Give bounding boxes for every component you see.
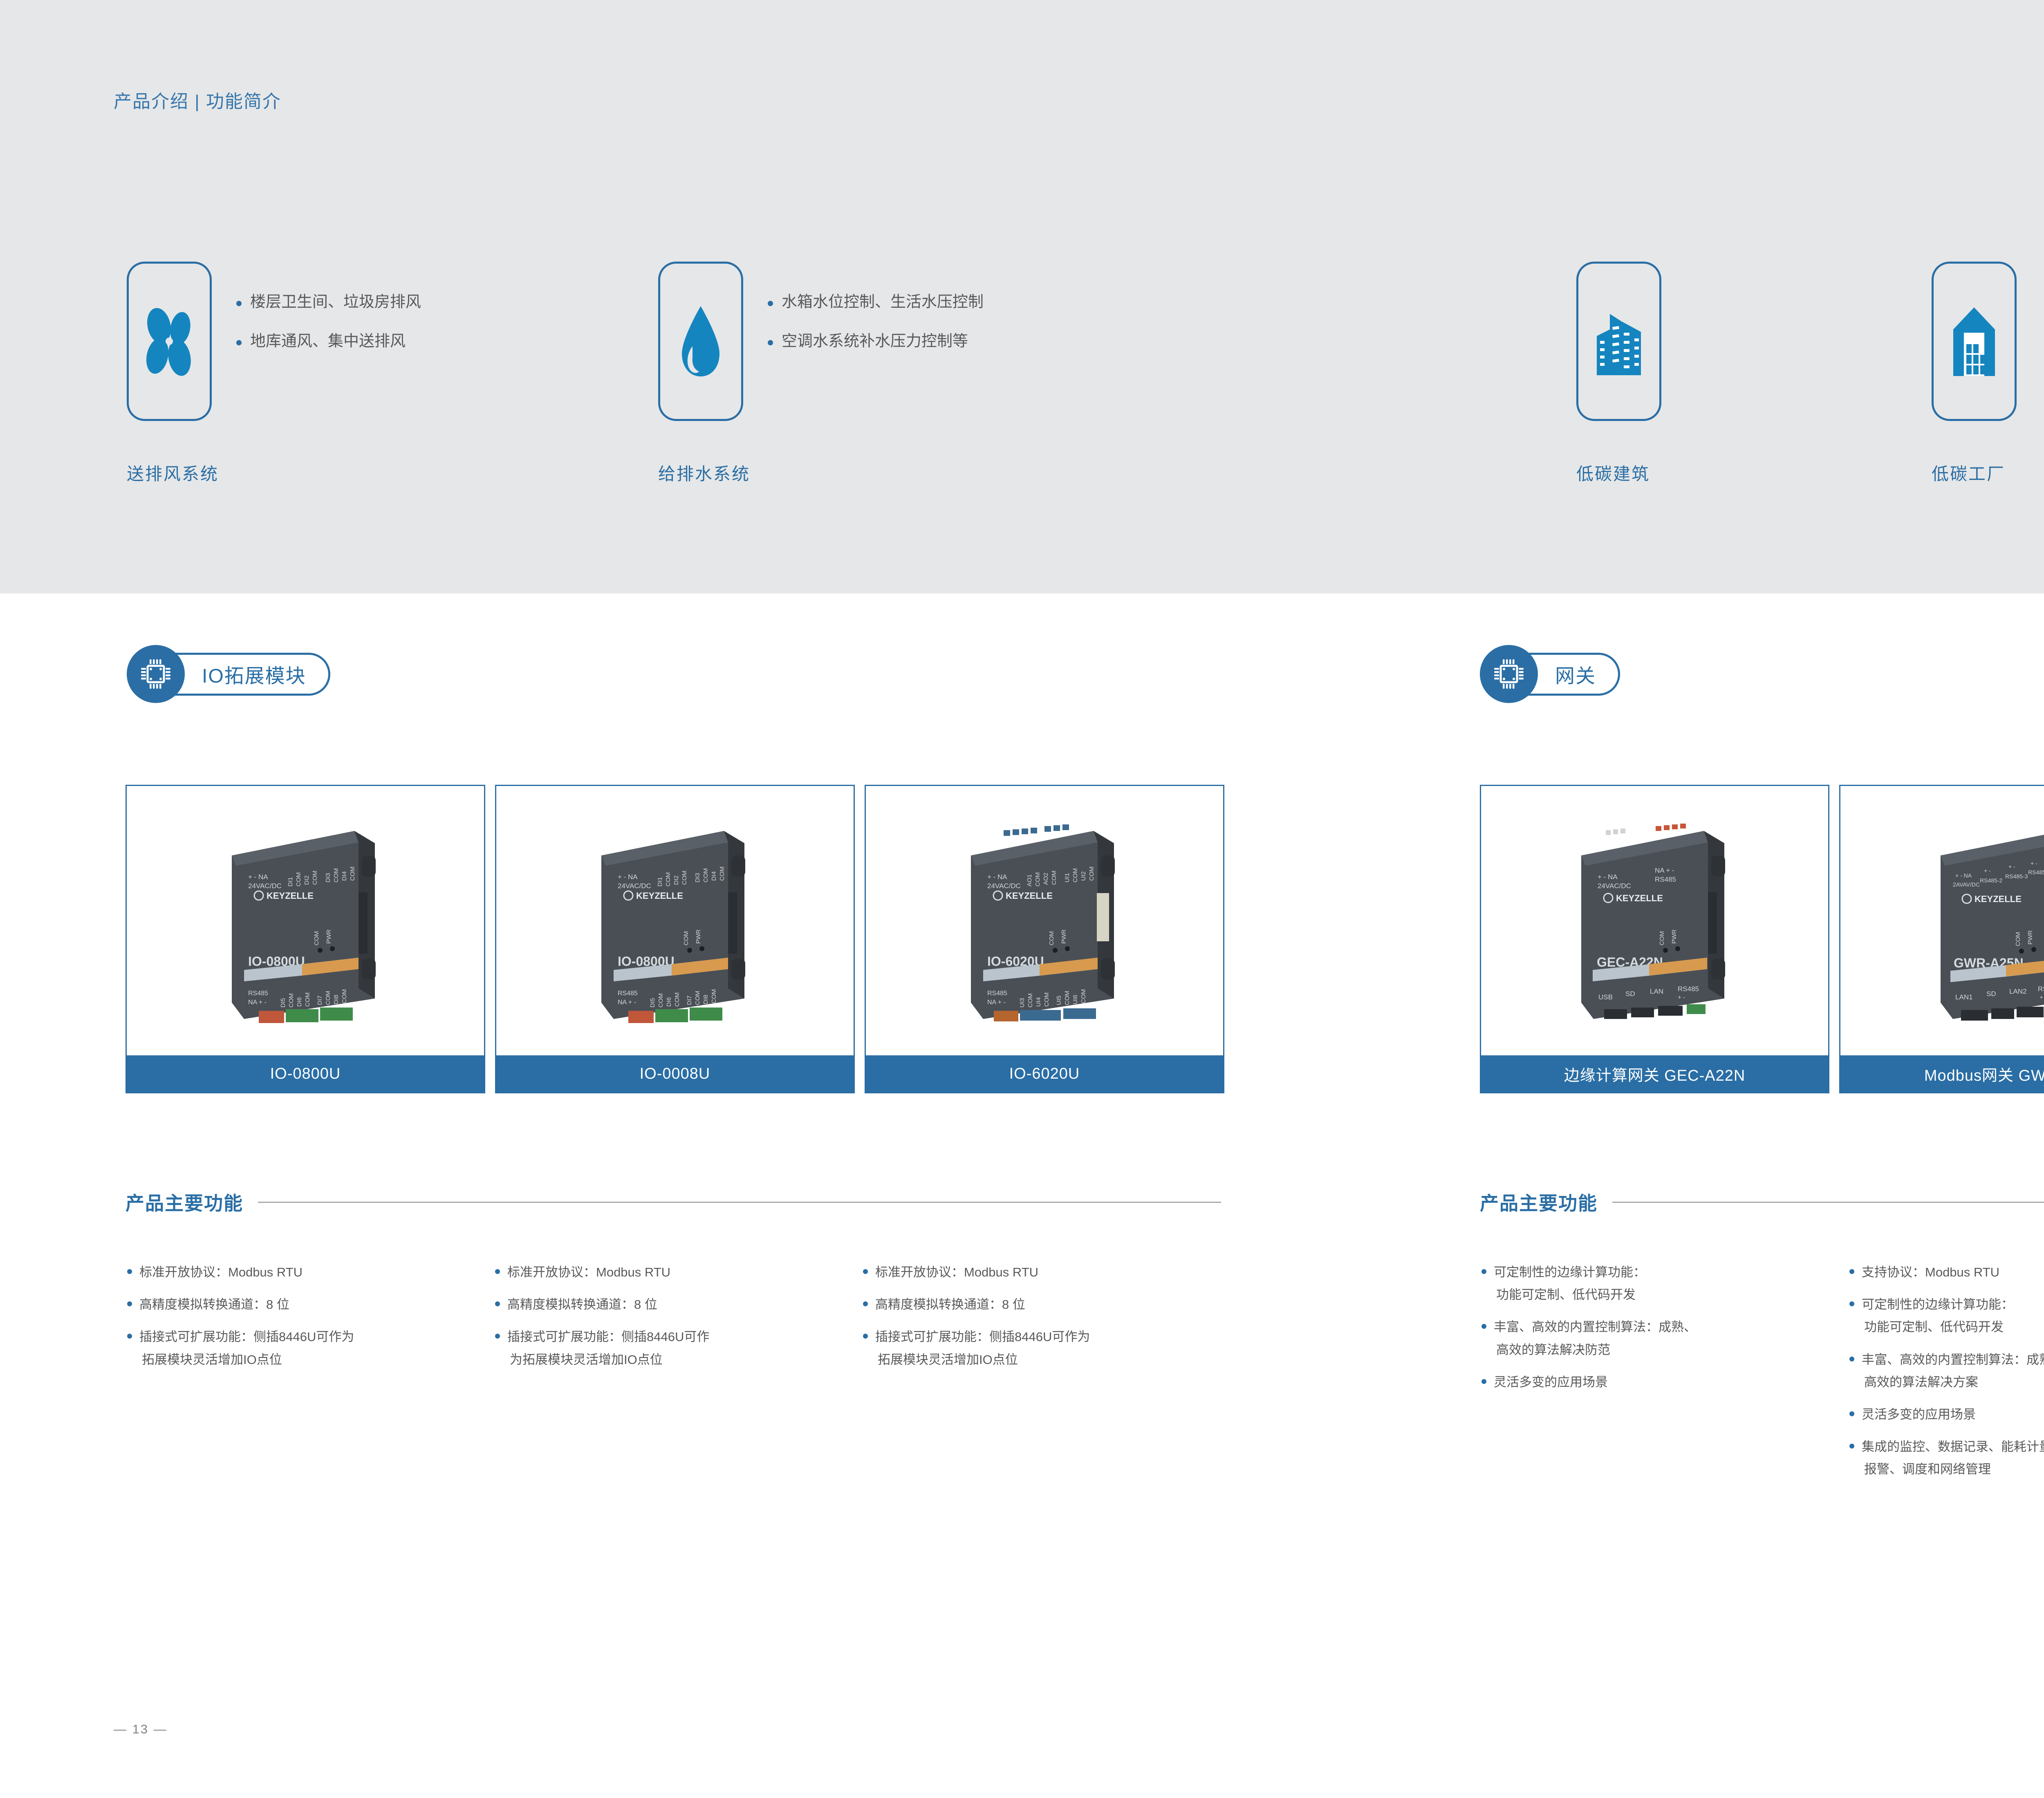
water-drop-icon bbox=[676, 300, 725, 382]
svg-text:COM: COM bbox=[304, 992, 311, 1007]
product-card-label: IO-0008U bbox=[496, 1055, 854, 1092]
factory-icon-frame bbox=[1932, 262, 2017, 421]
svg-text:COM: COM bbox=[349, 867, 356, 881]
svg-text:KEYZELLE: KEYZELLE bbox=[267, 891, 314, 901]
gateway-product-card-list: + - NA 24VAC/DC NA + - RS485 KEYZELLE GE… bbox=[1480, 785, 2044, 1093]
feature-column-1: 可定制性的边缘计算功能：功能可定制、低代码开发 丰富、高效的内置控制算法：成熟、… bbox=[1480, 1261, 1848, 1490]
svg-text:COM: COM bbox=[312, 871, 318, 885]
office-building-icon bbox=[1591, 302, 1647, 380]
svg-text:NA + -: NA + - bbox=[1655, 867, 1674, 874]
svg-text:DI5: DI5 bbox=[280, 998, 287, 1007]
svg-text:RS485: RS485 bbox=[1655, 875, 1676, 883]
svg-text:PWR: PWR bbox=[695, 929, 702, 943]
chip-icon-circle bbox=[127, 645, 185, 703]
svg-text:KEYZELLE: KEYZELLE bbox=[636, 891, 683, 901]
svg-text:COM: COM bbox=[694, 991, 701, 1005]
factory-icon bbox=[1950, 302, 1998, 380]
svg-text:COM: COM bbox=[719, 867, 726, 881]
svg-text:NA + -: NA + - bbox=[248, 999, 267, 1006]
svg-text:DI1: DI1 bbox=[657, 877, 663, 886]
svg-text:+ - NA: + - NA bbox=[618, 873, 638, 881]
svg-text:DI7: DI7 bbox=[686, 995, 693, 1005]
scenario-water-supply: 给排水系统 水箱水位控制、生活水压控制 空调水系统补水压力控制等 bbox=[658, 262, 750, 485]
scenario-title: 送排风系统 bbox=[127, 460, 219, 485]
list-item: 插接式可扩展功能：侧插8446U可作为拓展模块灵活增加IO点位 bbox=[126, 1326, 493, 1370]
product-card-label: IO-6020U bbox=[866, 1055, 1223, 1092]
list-item: 可定制性的边缘计算功能：功能可定制、低代码开发 bbox=[1848, 1293, 2044, 1338]
product-card-label: IO-0800U bbox=[127, 1055, 484, 1092]
svg-text:24VAC/DC: 24VAC/DC bbox=[987, 882, 1021, 890]
svg-text:USB: USB bbox=[1598, 993, 1613, 1001]
svg-text:DI8: DI8 bbox=[333, 994, 340, 1004]
svg-text:UI3: UI3 bbox=[1019, 998, 1026, 1007]
svg-text:DI2: DI2 bbox=[303, 875, 310, 884]
list-item: 插接式可扩展功能：侧插8446U可作为拓展模块灵活增加IO点位 bbox=[861, 1326, 1229, 1370]
product-card-io-0008u[interactable]: + - NA 24VAC/DC DI1 COM DI2 COM DI3 COM … bbox=[495, 785, 855, 1093]
svg-text:AO2: AO2 bbox=[1042, 872, 1049, 884]
svg-text:+ -: + - bbox=[2008, 863, 2015, 870]
svg-text:COM: COM bbox=[1072, 868, 1079, 882]
section-badge-io-modules: IO拓展模块 bbox=[127, 645, 330, 703]
product-card-label: 边缘计算网关 GEC-A22N bbox=[1481, 1055, 1828, 1092]
fan-icon bbox=[143, 300, 196, 382]
svg-text:+ -: + - bbox=[2031, 860, 2037, 867]
svg-text:COM: COM bbox=[1027, 993, 1034, 1008]
scenario-ventilation: 送排风系统 楼层卫生间、垃圾房排风 地库通风、集中送排风 bbox=[127, 262, 219, 485]
product-card-gec-a22n[interactable]: + - NA 24VAC/DC NA + - RS485 KEYZELLE GE… bbox=[1480, 785, 1829, 1093]
svg-text:COM: COM bbox=[1659, 931, 1665, 945]
svg-text:PWR: PWR bbox=[1060, 929, 1067, 943]
svg-text:+ -: + - bbox=[2040, 994, 2044, 1001]
svg-text:SD: SD bbox=[1986, 990, 1996, 998]
fan-icon-frame bbox=[127, 262, 212, 421]
io-features-heading-row: 产品主要功能 bbox=[126, 1189, 1221, 1216]
svg-text:UI1: UI1 bbox=[1064, 873, 1071, 882]
list-item: 插接式可扩展功能：侧插8446U可作为拓展模块灵活增加IO点位 bbox=[493, 1326, 861, 1370]
svg-text:DI7: DI7 bbox=[316, 995, 323, 1005]
product-card-io-0800u[interactable]: + - NA 24VAC/DC DI1 COM DI2 COM DI3 COM … bbox=[126, 785, 485, 1093]
svg-text:COM: COM bbox=[295, 872, 302, 887]
page-header-left: 产品介绍 | 功能简介 bbox=[114, 87, 281, 113]
svg-text:COM: COM bbox=[657, 993, 664, 1008]
list-item: 水箱水位控制、生活水压控制 bbox=[765, 294, 1133, 310]
svg-text:COM: COM bbox=[665, 872, 672, 887]
list-item: 灵活多变的应用场景 bbox=[1848, 1403, 2044, 1426]
svg-text:UI6: UI6 bbox=[1072, 994, 1079, 1004]
heading-rule bbox=[258, 1202, 1221, 1203]
svg-text:COM: COM bbox=[333, 868, 340, 882]
svg-text:+ - NA: + - NA bbox=[1598, 873, 1618, 881]
svg-text:COM: COM bbox=[1048, 931, 1055, 945]
list-item: 高精度模拟转换通道：8 位 bbox=[861, 1293, 1229, 1316]
svg-text:COM: COM bbox=[325, 991, 332, 1005]
svg-text:COM: COM bbox=[1088, 867, 1095, 881]
svg-text:RS485: RS485 bbox=[618, 990, 638, 997]
svg-text:LAN1: LAN1 bbox=[1955, 993, 1973, 1001]
svg-text:DI3: DI3 bbox=[325, 873, 332, 882]
product-card-label: Modbus网关 GWR-A25N bbox=[1840, 1055, 2044, 1092]
product-photo: + - NA 24VAC/DC DI1 COM DI2 COM DI3 COM … bbox=[496, 786, 854, 1055]
svg-text:RS485-1: RS485-1 bbox=[2038, 985, 2044, 993]
office-building-icon-frame bbox=[1576, 262, 1661, 421]
chip-icon-circle bbox=[1480, 645, 1538, 703]
application-title: 低碳建筑 bbox=[1576, 460, 1661, 485]
svg-text:+ - NA: + - NA bbox=[248, 873, 268, 881]
svg-text:COM: COM bbox=[1080, 989, 1087, 1003]
list-item: 地库通风、集中送排风 bbox=[234, 334, 602, 349]
heading-rule bbox=[1612, 1202, 2044, 1203]
list-item: 标准开放协议：Modbus RTU bbox=[861, 1261, 1229, 1283]
svg-text:RS485-4: RS485-4 bbox=[2028, 869, 2044, 875]
svg-text:RS485: RS485 bbox=[248, 990, 268, 997]
svg-text:+ -: + - bbox=[1984, 867, 1991, 874]
svg-text:+ - NA: + - NA bbox=[1955, 872, 1972, 879]
list-item: 支持协议：Modbus RTU bbox=[1848, 1261, 2044, 1283]
svg-text:DI2: DI2 bbox=[673, 875, 680, 884]
svg-text:+ -: + - bbox=[1678, 994, 1685, 1001]
svg-text:AO1: AO1 bbox=[1026, 874, 1033, 886]
list-item: 标准开放协议：Modbus RTU bbox=[126, 1261, 493, 1283]
svg-text:COM: COM bbox=[681, 871, 688, 885]
list-item: 高精度模拟转换通道：8 位 bbox=[126, 1293, 493, 1316]
list-item: 丰富、高效的内置控制算法：成熟、高效的算法解决方案 bbox=[1848, 1348, 2044, 1393]
product-card-gwr-a25n[interactable]: + - NA+ -+ - + -+ - 2AVAV/DCRS485-2RS485… bbox=[1839, 785, 2044, 1093]
svg-text:RS485: RS485 bbox=[1678, 985, 1699, 993]
device-image-io-6020u: + - NA 24VAC/DC AO1 COM AO2 COM UI1 COM … bbox=[922, 806, 1167, 1035]
scenario-bullet-list: 水箱水位控制、生活水压控制 空调水系统补水压力控制等 bbox=[765, 294, 1133, 373]
svg-text:COM: COM bbox=[1051, 871, 1058, 885]
svg-text:DI5: DI5 bbox=[649, 998, 656, 1007]
section-heading: 产品主要功能 bbox=[1480, 1189, 1598, 1216]
product-card-io-6020u[interactable]: + - NA 24VAC/DC AO1 COM AO2 COM UI1 COM … bbox=[865, 785, 1224, 1093]
gateway-feature-columns: 可定制性的边缘计算功能：功能可定制、低代码开发 丰富、高效的内置控制算法：成熟、… bbox=[1480, 1261, 2044, 1490]
product-photo: + - NA 24VAC/DC NA + - RS485 KEYZELLE GE… bbox=[1481, 786, 1828, 1055]
svg-text:KEYZELLE: KEYZELLE bbox=[1975, 894, 2022, 904]
list-item: 空调水系统补水压力控制等 bbox=[765, 334, 1133, 349]
list-item: 高精度模拟转换通道：8 位 bbox=[493, 1293, 861, 1316]
svg-text:COM: COM bbox=[313, 931, 320, 945]
chip-icon bbox=[139, 657, 173, 691]
svg-text:RS485-3: RS485-3 bbox=[2005, 873, 2028, 880]
svg-text:UI2: UI2 bbox=[1080, 871, 1087, 880]
svg-text:PWR: PWR bbox=[1671, 929, 1678, 943]
section-heading: 产品主要功能 bbox=[126, 1189, 243, 1216]
svg-text:DI6: DI6 bbox=[666, 997, 672, 1006]
device-image-gec-a22n: + - NA 24VAC/DC NA + - RS485 KEYZELLE GE… bbox=[1532, 806, 1777, 1035]
svg-text:COM: COM bbox=[341, 989, 348, 1003]
svg-text:DI3: DI3 bbox=[694, 873, 701, 882]
list-item: 楼层卫生间、垃圾房排风 bbox=[234, 294, 602, 310]
device-image-io-0800u: + - NA 24VAC/DC DI1 COM DI2 COM DI3 COM … bbox=[183, 806, 428, 1035]
svg-text:COM: COM bbox=[710, 989, 717, 1003]
svg-text:NA + -: NA + - bbox=[618, 999, 636, 1006]
svg-text:UI4: UI4 bbox=[1035, 997, 1042, 1006]
svg-text:COM: COM bbox=[702, 868, 709, 882]
gateway-features-heading-row: 产品主要功能 bbox=[1480, 1189, 2044, 1216]
svg-text:COM: COM bbox=[1043, 992, 1050, 1007]
svg-text:DI4: DI4 bbox=[710, 871, 717, 880]
svg-text:24VAC/DC: 24VAC/DC bbox=[618, 882, 651, 890]
chip-icon bbox=[1492, 657, 1526, 691]
scenario-title: 给排水系统 bbox=[658, 460, 750, 485]
svg-text:DI1: DI1 bbox=[287, 877, 294, 886]
svg-text:KEYZELLE: KEYZELLE bbox=[1006, 891, 1053, 901]
svg-text:24VAC/DC: 24VAC/DC bbox=[248, 882, 282, 890]
svg-text:LAN2: LAN2 bbox=[2009, 987, 2027, 995]
product-photo: + - NA 24VAC/DC AO1 COM AO2 COM UI1 COM … bbox=[866, 786, 1223, 1055]
svg-text:DI4: DI4 bbox=[341, 871, 348, 880]
feature-column-2: 标准开放协议：Modbus RTU 高精度模拟转换通道：8 位 插接式可扩展功能… bbox=[493, 1261, 861, 1381]
svg-text:COM: COM bbox=[683, 931, 690, 945]
svg-text:PWR: PWR bbox=[325, 929, 332, 943]
application-low-carbon-factory: 低碳工厂 bbox=[1932, 262, 2017, 485]
list-item: 可定制性的边缘计算功能：功能可定制、低代码开发 bbox=[1480, 1261, 1848, 1306]
section-badge-label: IO拓展模块 bbox=[170, 653, 330, 696]
svg-text:DI6: DI6 bbox=[296, 997, 303, 1006]
product-photo: + - NA 24VAC/DC DI1 COM DI2 COM DI3 COM … bbox=[127, 786, 484, 1055]
svg-text:DI8: DI8 bbox=[702, 994, 709, 1004]
device-image-gwr-a25n: + - NA+ -+ - + -+ - 2AVAV/DCRS485-2RS485… bbox=[1892, 806, 2044, 1035]
section-badge-gateways: 网关 bbox=[1480, 645, 1620, 703]
svg-text:PWR: PWR bbox=[2027, 930, 2034, 944]
feature-column-1: 标准开放协议：Modbus RTU 高精度模拟转换通道：8 位 插接式可扩展功能… bbox=[126, 1261, 493, 1381]
svg-text:COM: COM bbox=[2015, 932, 2022, 946]
scenario-bullet-list: 楼层卫生间、垃圾房排风 地库通风、集中送排风 bbox=[234, 294, 602, 373]
svg-text:2AVAV/DC: 2AVAV/DC bbox=[1953, 881, 1980, 888]
svg-text:+ - NA: + - NA bbox=[987, 873, 1007, 881]
list-item: 集成的监控、数据记录、能耗计量、报警、调度和网络管理 bbox=[1848, 1435, 2044, 1480]
io-feature-columns: 标准开放协议：Modbus RTU 高精度模拟转换通道：8 位 插接式可扩展功能… bbox=[126, 1261, 1229, 1381]
svg-text:RS485: RS485 bbox=[987, 990, 1007, 997]
list-item: 灵活多变的应用场景 bbox=[1480, 1371, 1848, 1393]
page-number-left: — 13 — bbox=[114, 1722, 168, 1737]
svg-text:NA + -: NA + - bbox=[987, 999, 1006, 1006]
io-product-card-list: + - NA 24VAC/DC DI1 COM DI2 COM DI3 COM … bbox=[126, 785, 1224, 1093]
feature-column-2: 支持协议：Modbus RTU 可定制性的边缘计算功能：功能可定制、低代码开发 … bbox=[1848, 1261, 2044, 1490]
svg-text:UI5: UI5 bbox=[1056, 995, 1062, 1005]
svg-text:RS485-2: RS485-2 bbox=[1980, 877, 2002, 884]
device-image-io-0008u: + - NA 24VAC/DC DI1 COM DI2 COM DI3 COM … bbox=[552, 806, 798, 1035]
product-photo: + - NA+ -+ - + -+ - 2AVAV/DCRS485-2RS485… bbox=[1840, 786, 2044, 1055]
svg-text:COM: COM bbox=[288, 993, 295, 1008]
application-low-carbon-building: 低碳建筑 bbox=[1576, 262, 1661, 485]
svg-text:LAN: LAN bbox=[1650, 987, 1663, 995]
svg-text:KEYZELLE: KEYZELLE bbox=[1616, 893, 1663, 903]
water-drop-icon-frame bbox=[658, 262, 743, 421]
list-item: 丰富、高效的内置控制算法：成熟、高效的算法解决防范 bbox=[1480, 1316, 1848, 1361]
svg-text:24VAC/DC: 24VAC/DC bbox=[1598, 882, 1631, 890]
svg-text:COM: COM bbox=[674, 992, 681, 1007]
application-title: 低碳工厂 bbox=[1932, 460, 2017, 485]
feature-column-3: 标准开放协议：Modbus RTU 高精度模拟转换通道：8 位 插接式可扩展功能… bbox=[861, 1261, 1229, 1381]
svg-text:SD: SD bbox=[1625, 990, 1635, 998]
list-item: 标准开放协议：Modbus RTU bbox=[493, 1261, 861, 1283]
svg-text:COM: COM bbox=[1064, 991, 1071, 1005]
svg-text:COM: COM bbox=[1034, 872, 1041, 887]
